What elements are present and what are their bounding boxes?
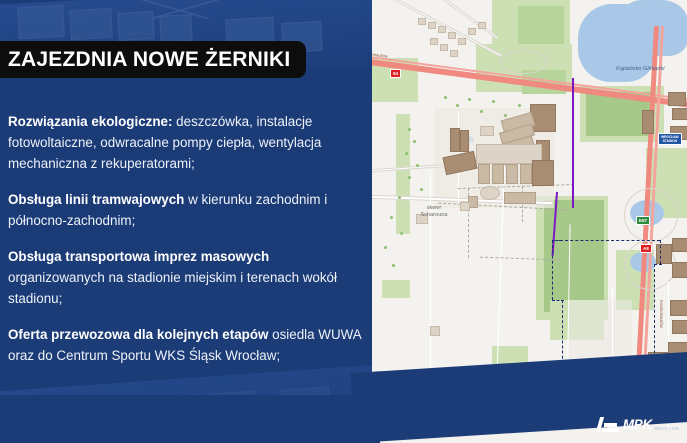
- bullet-list: Rozwiązania ekologiczne: deszczówka, ins…: [8, 99, 368, 366]
- direction-sign-stadion: WROCŁAW STADION: [658, 133, 682, 145]
- page-title: ZAJEZDNIA NOWE ŻERNIKI: [8, 48, 290, 72]
- depot-boundary-step-top: [654, 264, 662, 265]
- road-shield-a8: A8: [640, 244, 652, 253]
- bottom-banner-left: [0, 395, 380, 443]
- map-label-lake: Kąpielisko Glinianki: [616, 66, 670, 73]
- tram-line: [572, 78, 574, 208]
- presentation-slide: 94 E67 A8 WROCŁAW STADION Kąpielisko Gli…: [0, 0, 687, 443]
- bullet-item: Oferta przewozowa dla kolejnych etapów o…: [8, 325, 368, 366]
- map-label-square: skwer Scharouna: [414, 205, 454, 219]
- map-label-road-vertical: Kosmonautów: [659, 300, 664, 328]
- direction-sign-line2: STADION: [661, 139, 679, 143]
- mpk-arrow-icon: [598, 417, 619, 432]
- road-shield-94: 94: [390, 69, 401, 78]
- bullet-lead: Rozwiązania ekologiczne:: [8, 114, 172, 129]
- depot-boundary-top: [560, 240, 660, 241]
- depot-boundary-left: [552, 240, 553, 300]
- depot-boundary-right-upper: [660, 240, 661, 264]
- mpk-logo: MPK WROCŁAW: [598, 417, 679, 432]
- depot-boundary-left-top: [552, 240, 562, 241]
- mpk-logo-city: WROCŁAW: [654, 426, 679, 431]
- road-shield-e67: E67: [636, 216, 650, 225]
- bullet-item: Rozwiązania ekologiczne: deszczówka, ins…: [8, 112, 368, 174]
- slide-title-ribbon: ZAJEZDNIA NOWE ŻERNIKI: [0, 41, 306, 78]
- depot-boundary-step-left: [552, 300, 564, 301]
- bullet-item: Obsługa transportowa imprez masowych org…: [8, 247, 368, 309]
- bullet-lead: Obsługa linii tramwajowych: [8, 192, 184, 207]
- mpk-logo-name: MPK: [623, 418, 652, 432]
- bullet-rest: organizowanych na stadionie miejskim i t…: [8, 270, 337, 306]
- bullet-lead: Oferta przewozowa dla kolejnych etapów: [8, 327, 268, 342]
- bullet-lead: Obsługa transportowa imprez masowych: [8, 249, 269, 264]
- bullet-item: Obsługa linii tramwajowych w kierunku za…: [8, 190, 368, 231]
